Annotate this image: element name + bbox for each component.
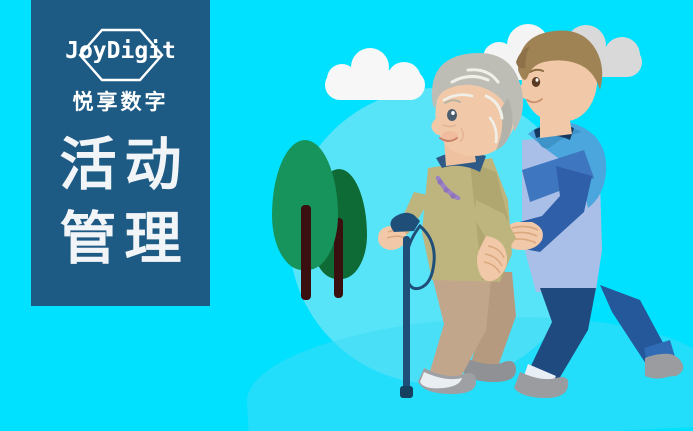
poster-canvas: JoyDigit 悦享数字 活动 管理 bbox=[0, 0, 693, 431]
page-title-line-1: 活动 bbox=[31, 128, 210, 202]
brand-chinese-name: 悦享数字 bbox=[31, 86, 210, 116]
logo-wordmark: JoyDigit bbox=[31, 38, 210, 64]
page-title: 活动 管理 bbox=[31, 128, 210, 276]
logo: JoyDigit bbox=[31, 26, 210, 82]
brand-block: JoyDigit 悦享数字 bbox=[31, 26, 210, 116]
page-title-line-2: 管理 bbox=[31, 202, 210, 276]
young-man-figure bbox=[504, 30, 683, 398]
info-panel: JoyDigit 悦享数字 活动 管理 bbox=[31, 0, 210, 306]
